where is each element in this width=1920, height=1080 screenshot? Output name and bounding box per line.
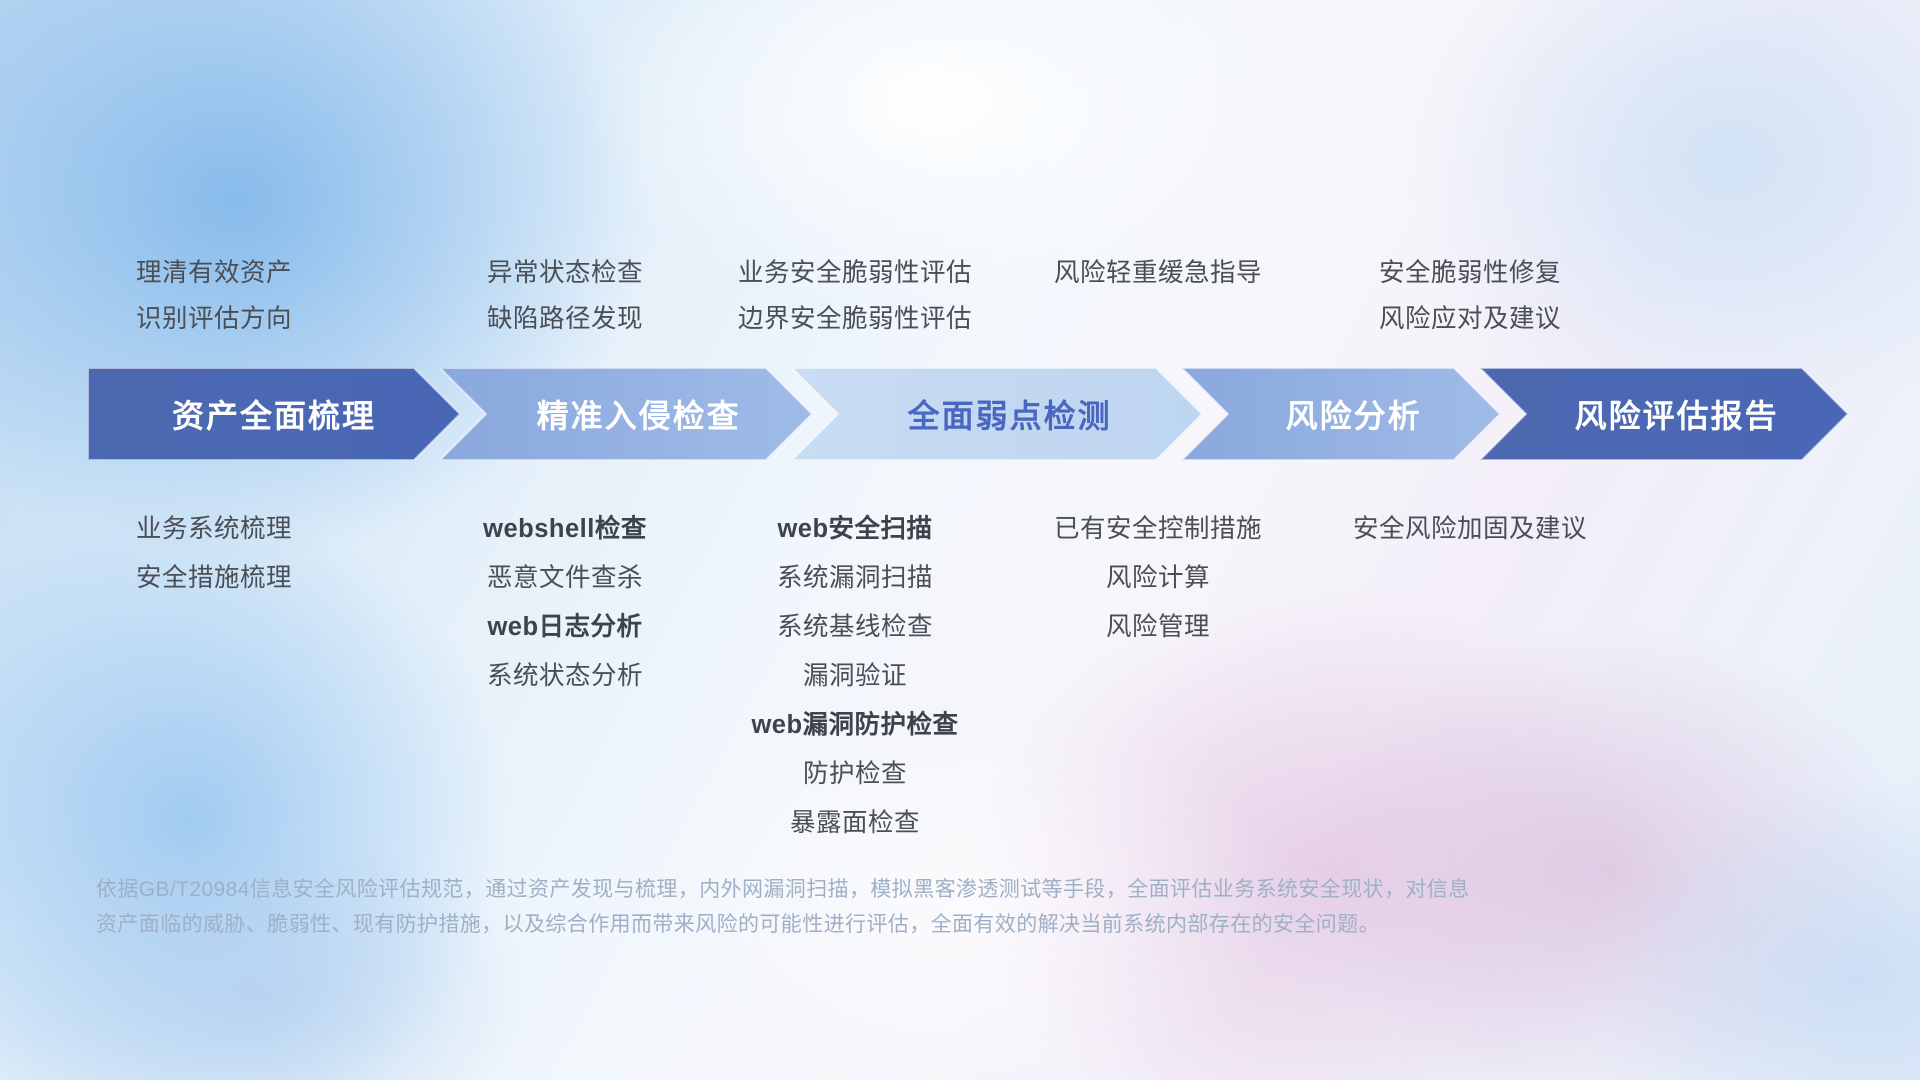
bottom-label-item: 防护检查 (625, 750, 1085, 799)
chevron-title: 资产全面梳理 (172, 391, 376, 437)
top-label-item: 安全脆弱性修复 (1250, 250, 1690, 296)
footer-line-2: 资产面临的威胁、脆弱性、现有防护措施，以及综合作用而带来风险的可能性进行评估，全… (96, 907, 1656, 942)
top-label-row: 理清有效资产识别评估方向异常状态检查缺陷路径发现业务安全脆弱性评估边界安全脆弱性… (0, 232, 1920, 342)
chevron-stage-asset-inventory[interactable]: 资产全面梳理 (88, 368, 460, 460)
footer-description: 依据GB/T20984信息安全风险评估规范，通过资产发现与梳理，内外网漏洞扫描，… (96, 872, 1656, 942)
chevron-stage-weakness-detection[interactable]: 全面弱点检测 (792, 368, 1202, 460)
bottom-labels-risk-report: 安全风险加固及建议 (1240, 505, 1700, 554)
bottom-label-item: 漏洞验证 (625, 652, 1085, 701)
bottom-label-item: 风险计算 (928, 554, 1388, 603)
top-label-item: 风险应对及建议 (1250, 296, 1690, 342)
chevron-stage-intrusion-check[interactable]: 精准入侵检查 (440, 368, 812, 460)
chevron-stage-risk-report[interactable]: 风险评估报告 (1480, 368, 1848, 460)
bottom-label-item: 风险管理 (928, 603, 1388, 652)
bottom-label-item: web漏洞防护检查 (625, 701, 1085, 750)
top-label-item: 边界安全脆弱性评估 (635, 296, 1075, 342)
bottom-label-item: 暴露面检查 (625, 799, 1085, 848)
chevron-title: 风险评估报告 (1549, 391, 1778, 437)
chevron-process-bar: 资产全面梳理精准入侵检查全面弱点检测风险分析风险评估报告 (88, 368, 1848, 460)
chevron-stage-risk-analysis[interactable]: 风险分析 (1182, 368, 1500, 460)
chevron-title: 全面弱点检测 (882, 391, 1111, 437)
process-diagram: 理清有效资产识别评估方向异常状态检查缺陷路径发现业务安全脆弱性评估边界安全脆弱性… (0, 0, 1920, 1080)
top-labels-risk-report: 安全脆弱性修复风险应对及建议 (1250, 250, 1690, 342)
footer-line-1: 依据GB/T20984信息安全风险评估规范，通过资产发现与梳理，内外网漏洞扫描，… (96, 872, 1656, 907)
chevron-title: 精准入侵检查 (511, 391, 740, 437)
bottom-label-item: 安全风险加固及建议 (1240, 505, 1700, 554)
chevron-title: 风险分析 (1260, 391, 1421, 437)
